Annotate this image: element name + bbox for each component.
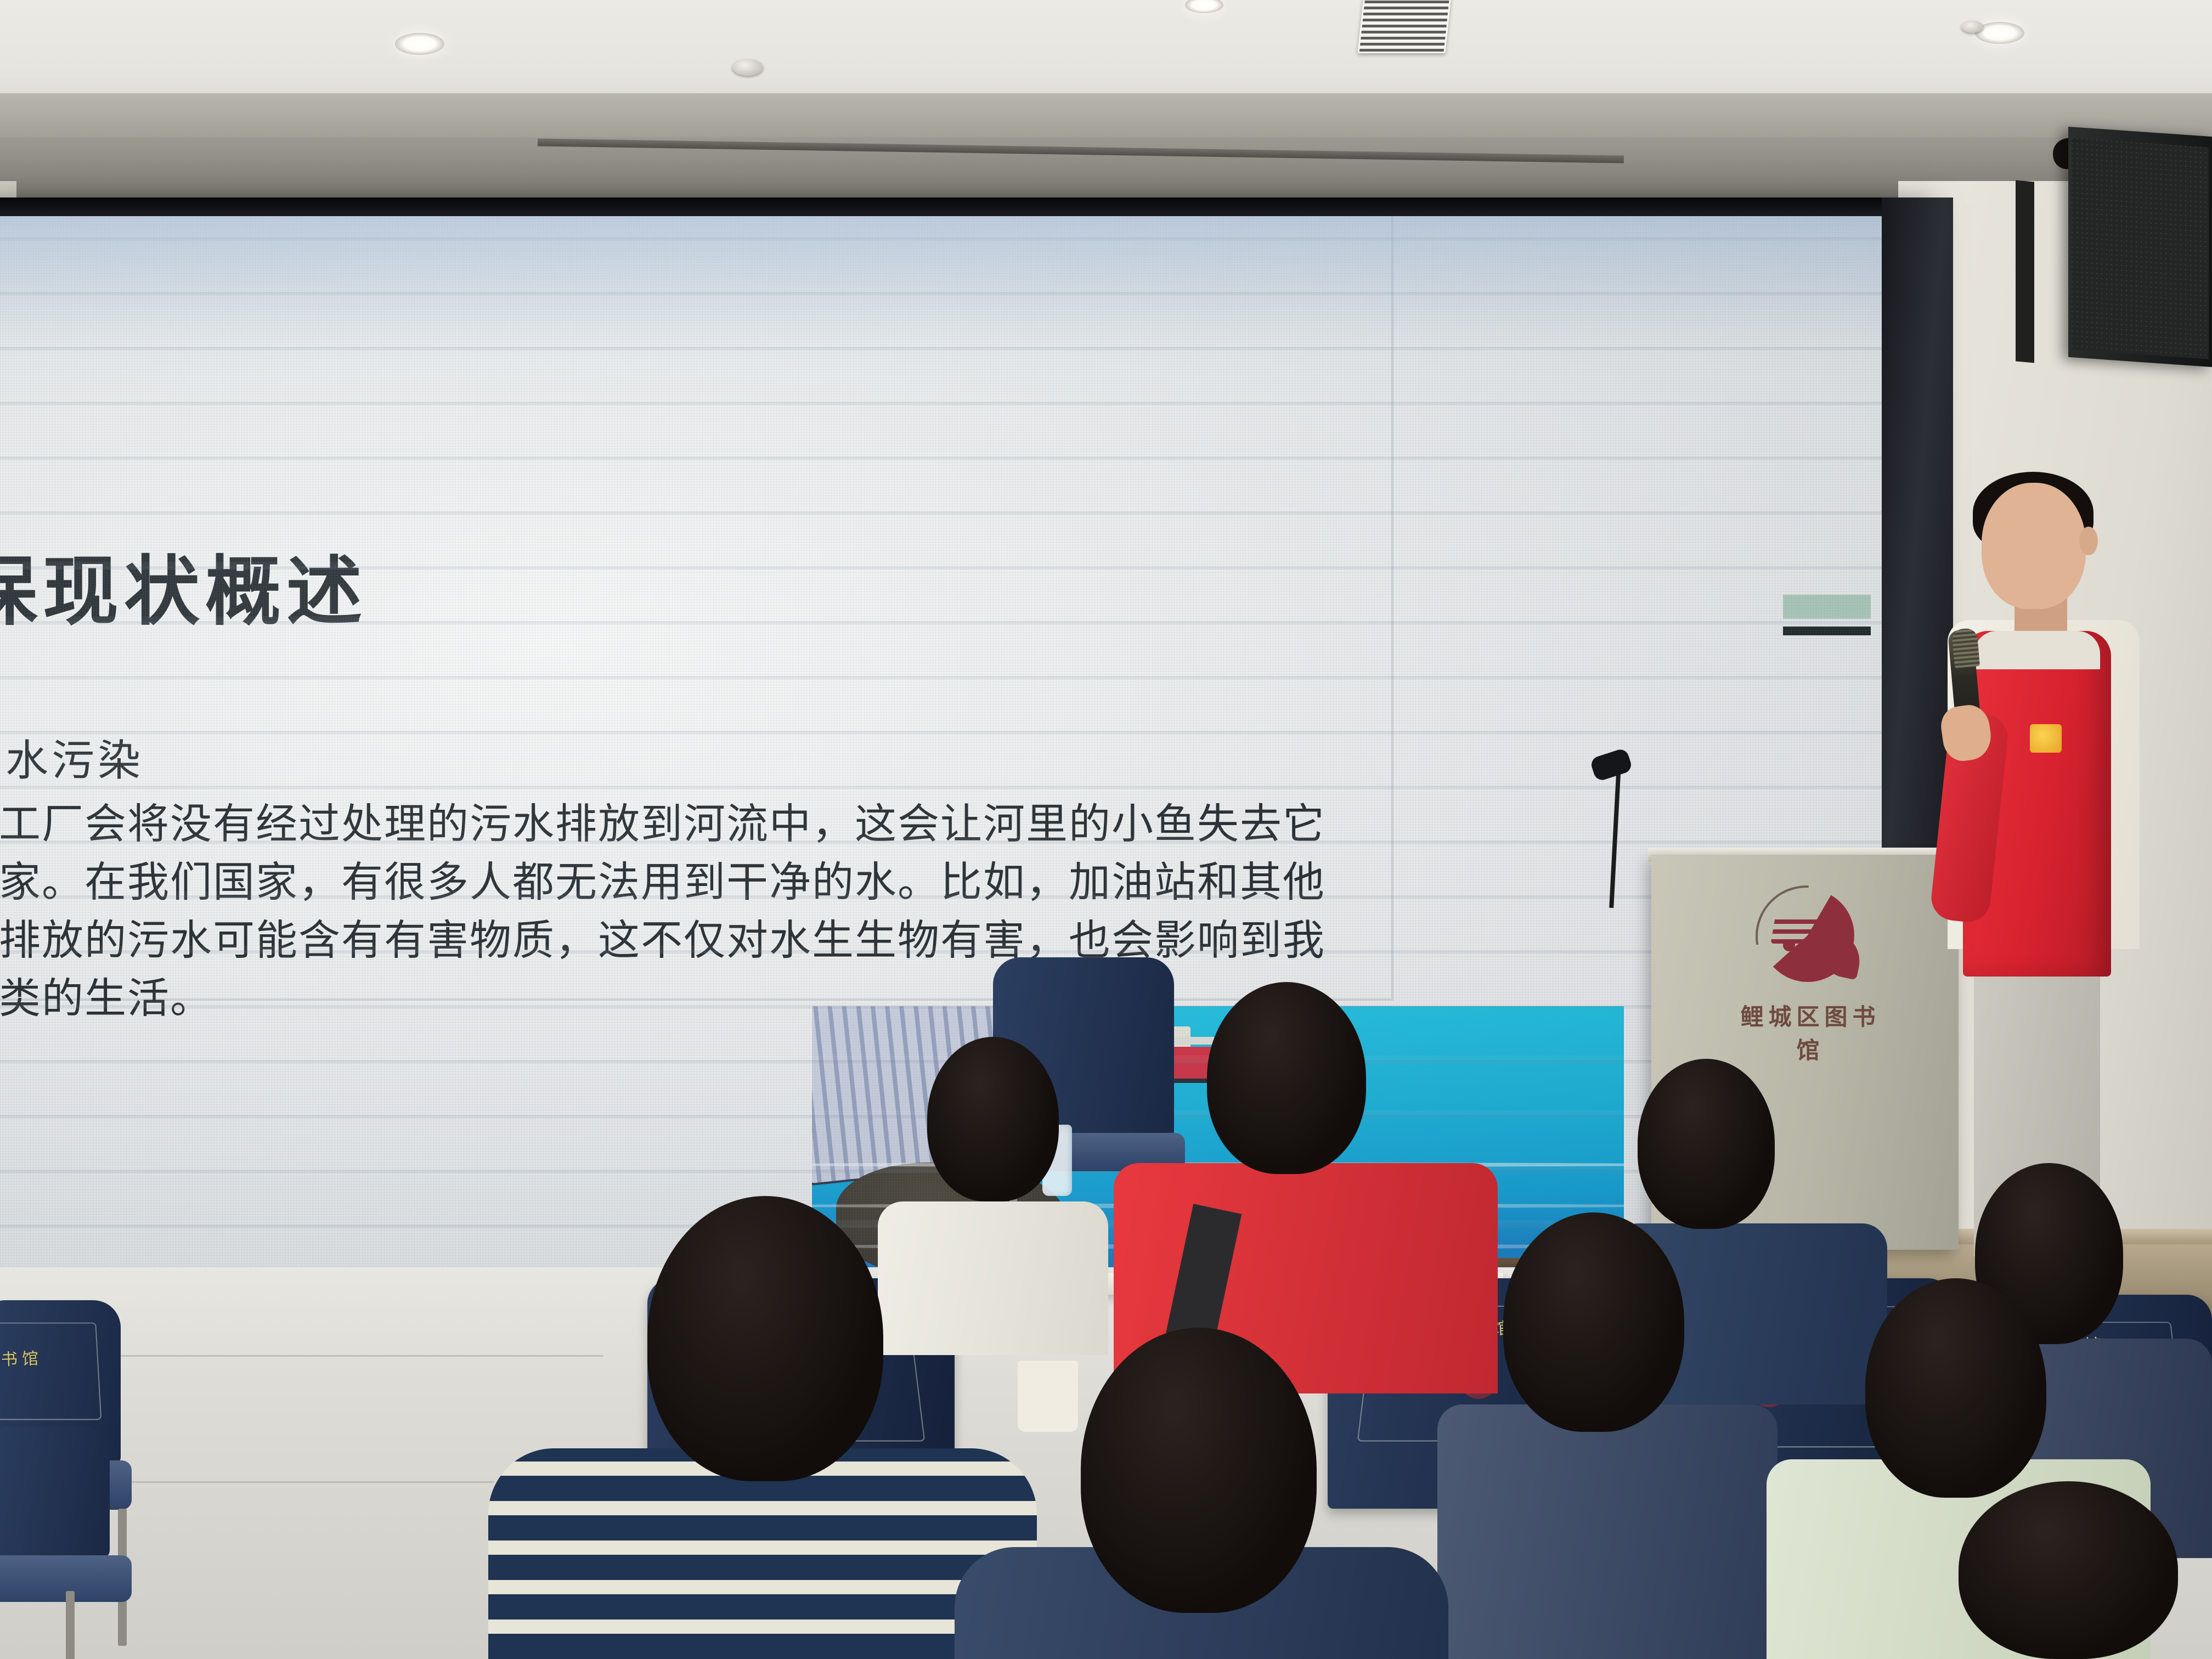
- slide-body-line: 些工厂会将没有经过处理的污水排放到河流中，这会让河里的小鱼失去它: [0, 795, 1832, 853]
- presentation-room-photo: 保现状概述 、水污染 些工厂会将没有经过处理的污水排放到河流中，这会让河里的小鱼…: [0, 0, 2212, 1659]
- audience-head: [647, 1196, 883, 1481]
- chair-leg: [66, 1591, 75, 1659]
- speaker-grille: [2072, 138, 2209, 359]
- paper-cup: [1018, 1361, 1078, 1432]
- slide-accent-bar: [1783, 627, 1871, 635]
- empty-chair: [0, 1426, 214, 1659]
- audience-torso: [878, 1201, 1108, 1355]
- audience-head: [927, 1037, 1059, 1201]
- slide-accent-block: [1783, 595, 1871, 619]
- slide-title: 保现状概述: [0, 530, 368, 640]
- smoke-detector-icon: [1961, 21, 1983, 33]
- screen-bezel-top: [0, 198, 1931, 216]
- downlight-icon: [395, 33, 444, 55]
- air-vent-icon: [1357, 0, 1451, 53]
- carp-logo-lines: [1770, 915, 1822, 944]
- presenter-badge: [2030, 724, 2062, 753]
- presenter-head: [1982, 483, 2086, 609]
- ceiling-shadow: [0, 137, 2212, 198]
- audience-head: [1865, 1278, 2046, 1498]
- smoke-detector-icon: [732, 59, 763, 76]
- microphone-mesh: [1951, 628, 1980, 668]
- carp-logo-eye: [1783, 939, 1795, 951]
- wall-speaker-small: [2016, 180, 2034, 363]
- slide-body-line: 厂排放的污水可能含有有害物质，这不仅对水生生物有害，也会影响到我: [0, 911, 1832, 969]
- audience-head: [1081, 1328, 1317, 1613]
- slide-body-line: 的家。在我们国家，有很多人都无法用到干净的水。比如，加油站和其他: [0, 853, 1832, 911]
- chair-back: [0, 1426, 110, 1558]
- chair-embroidery-frame: [0, 1323, 101, 1420]
- slide-body-text: 些工厂会将没有经过处理的污水排放到河流中，这会让河里的小鱼失去它 的家。在我们国…: [0, 795, 1832, 1028]
- slide-subtitle: 、水污染: [0, 726, 144, 788]
- presenter-collar: [1974, 631, 2100, 669]
- audience-head: [1638, 1059, 1775, 1229]
- audience-head: [1207, 982, 1366, 1174]
- audience-torso: [1437, 1404, 1778, 1659]
- wall-speaker: [2068, 127, 2212, 367]
- audience-head: [1959, 1481, 2178, 1659]
- carp-logo-icon: [1761, 889, 1854, 982]
- chair-back-label: 鲤城区图书馆: [0, 1345, 43, 1373]
- presenter-ear: [2079, 527, 2098, 555]
- audience-head: [1503, 1212, 1684, 1432]
- podium-label: 鲤城区图书馆: [1728, 998, 1893, 1065]
